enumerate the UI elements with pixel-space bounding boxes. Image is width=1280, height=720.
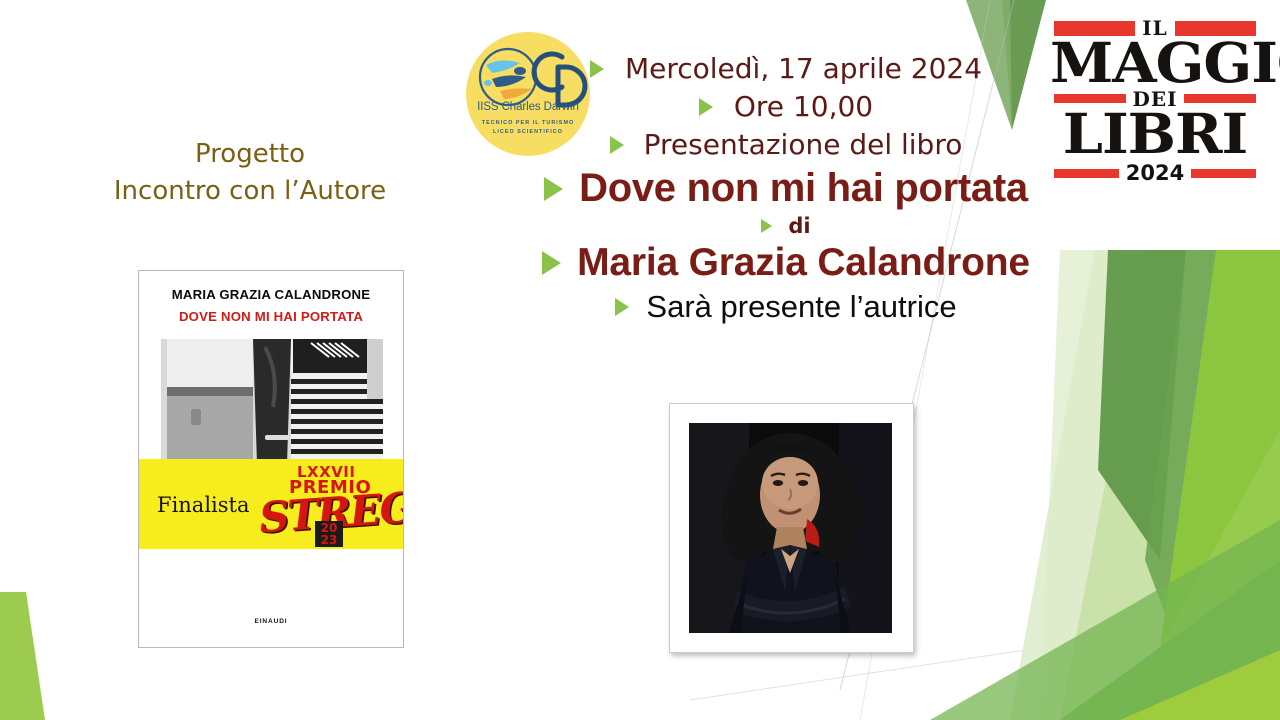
deco-poly-bottom-bright: [1120, 650, 1280, 720]
list-item-author-present: Sarà presente l’autrice: [536, 289, 1036, 325]
list-item-book-title: Dove non mi hai portata: [536, 166, 1036, 211]
maggio-dei-libri-logo: IL MAGGIO DEI LIBRI 2024: [1054, 18, 1256, 196]
book-cover-publisher: EINAUDI: [139, 618, 403, 625]
logo-bar-right-3: [1191, 169, 1256, 178]
event-time: Ore 10,00: [713, 90, 873, 123]
logo-row-year: 2024: [1054, 163, 1256, 184]
author-name-heading: Maria Grazia Calandrone: [561, 241, 1030, 285]
list-item-date: Mercoledì, 17 aprile 2024: [536, 52, 1036, 85]
strega-year-bottom: 23: [321, 533, 338, 547]
premio-strega-stamp: LXXVII PREMIO STREGA 20 23: [257, 463, 393, 553]
deco-poly-bottom-sweep: [930, 520, 1280, 720]
triangle-bullet-icon: [761, 219, 772, 233]
list-item-time: Ore 10,00: [536, 90, 1036, 123]
deco-poly-pale-1: [1040, 250, 1280, 720]
book-cover-image: MARIA GRAZIA CALANDRONE DOVE NON MI HAI …: [138, 270, 404, 648]
triangle-bullet-icon: [542, 251, 561, 275]
deco-poly-dark-2: [1145, 250, 1230, 640]
list-item-presentation: Presentazione del libro: [536, 128, 1036, 161]
triangle-bullet-icon: [699, 98, 713, 116]
book-cover-photo: [161, 339, 383, 464]
author-portrait-artwork: [689, 423, 892, 633]
book-title-heading: Dove non mi hai portata: [563, 166, 1028, 211]
logo-text-libri: LIBRI: [1050, 109, 1260, 160]
event-date: Mercoledì, 17 aprile 2024: [604, 52, 982, 85]
book-cover-finalista-label: Finalista: [157, 493, 250, 517]
list-item-by: di: [536, 214, 1036, 238]
author-portrait-frame: [669, 403, 914, 653]
logo-text-year: 2024: [1119, 163, 1191, 184]
globe-icon: [480, 49, 536, 105]
triangle-bullet-icon: [544, 177, 563, 201]
by-label: di: [772, 214, 810, 238]
book-cover-author: MARIA GRAZIA CALANDRONE: [139, 287, 403, 302]
strega-year-badge: 20 23: [315, 521, 343, 547]
deco-poly-dark: [1098, 250, 1186, 560]
author-portrait: [689, 423, 892, 633]
author-present-note: Sarà presente l’autrice: [629, 289, 956, 325]
logo-text-maggio: MAGGIO: [1050, 38, 1260, 89]
event-details-list: Mercoledì, 17 aprile 2024 Ore 10,00 Pres…: [536, 52, 1036, 325]
list-item-author-name: Maria Grazia Calandrone: [536, 241, 1036, 285]
event-presentation-label: Presentazione del libro: [624, 128, 963, 161]
book-cover-title: DOVE NON MI HAI PORTATA: [139, 309, 403, 324]
slide-canvas: Progetto Incontro con l’Autore IISS Char…: [0, 0, 1280, 720]
deco-poly-bright-2: [1120, 430, 1280, 720]
deco-poly-mid-green: [1060, 560, 1280, 720]
book-photo-artwork: [161, 339, 383, 464]
triangle-bullet-icon: [615, 298, 629, 316]
logo-bar-left-3: [1054, 169, 1119, 178]
deco-poly-bright: [1150, 250, 1280, 720]
triangle-bullet-icon: [610, 136, 624, 154]
triangle-bullet-icon: [590, 60, 604, 78]
deco-poly-pale-2: [1010, 250, 1280, 720]
deco-poly-light: [1060, 250, 1280, 720]
deco-bottom-left-wedge: [0, 592, 45, 720]
page-title: Progetto Incontro con l’Autore: [40, 136, 460, 210]
